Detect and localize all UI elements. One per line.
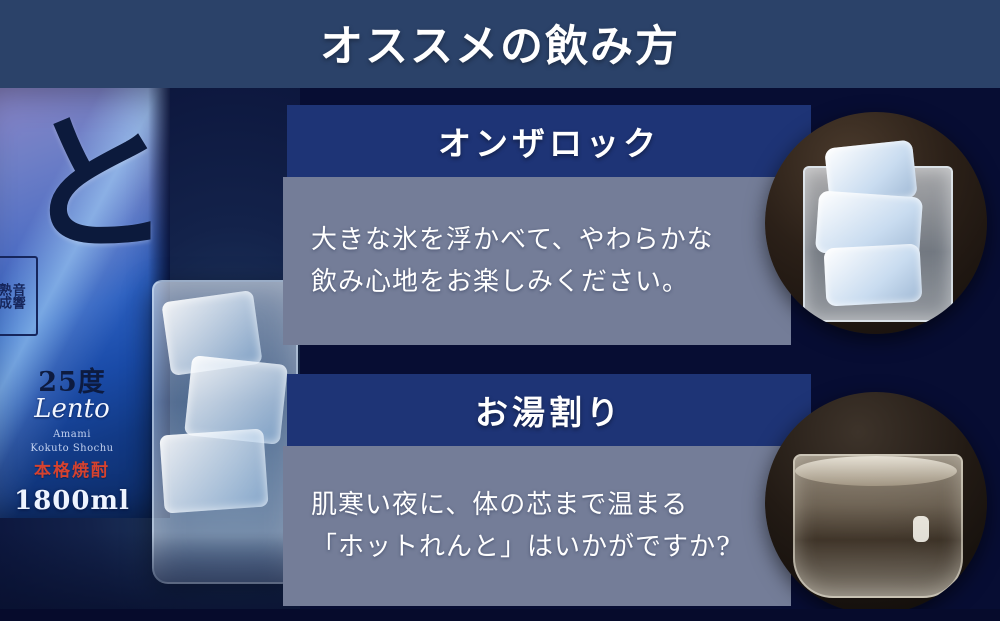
ice-cube bbox=[159, 428, 268, 513]
glass-highlight bbox=[913, 516, 929, 542]
recommendation-card-hot-water: 肌寒い夜に、体の芯まで温まる 「ホットれんと」はいかがですか? お湯割り bbox=[283, 374, 813, 614]
bottom-edge-strip bbox=[0, 609, 1000, 621]
recommendation-card-on-the-rocks: 大きな氷を浮かべて、やわらかな 飲み心地をお楽しみください。 オンザロック bbox=[283, 105, 813, 345]
seal-text-left: 熟成 bbox=[0, 283, 10, 309]
aging-seal: 音響 熟成 bbox=[0, 256, 38, 336]
advertisement-banner: と 音響 熟成 25度 Lento Amami Kokuto Shochu 本格… bbox=[0, 0, 1000, 621]
carton-brand-name: Lento bbox=[0, 394, 170, 424]
carton-kanji-mark: と bbox=[22, 110, 142, 290]
carton-category: 本格焼酎 bbox=[0, 456, 170, 481]
card-heading-band: オンザロック bbox=[287, 105, 811, 177]
seal-text-right: 音響 bbox=[10, 283, 24, 309]
card-body-panel: 肌寒い夜に、体の芯まで温まる 「ホットれんと」はいかがですか? bbox=[283, 446, 791, 606]
carton-english-line2: Kokuto Shochu bbox=[0, 442, 170, 456]
title-bar: オススメの飲み方 bbox=[0, 0, 1000, 88]
card-heading: お湯割り bbox=[475, 386, 623, 434]
hot-water-glass-photo bbox=[765, 392, 987, 614]
table-reflection bbox=[0, 531, 300, 621]
card-heading: オンザロック bbox=[438, 117, 660, 165]
liquid-surface bbox=[795, 456, 957, 486]
carton-volume: 1800ml bbox=[0, 486, 170, 516]
page-title: オススメの飲み方 bbox=[0, 12, 1000, 74]
card-body-panel: 大きな氷を浮かべて、やわらかな 飲み心地をお楽しみください。 bbox=[283, 177, 791, 345]
ice-rocks-glass-photo bbox=[765, 112, 987, 334]
shochu-carton: と 音響 熟成 25度 Lento Amami Kokuto Shochu 本格… bbox=[0, 88, 170, 518]
ice-cube bbox=[824, 244, 923, 307]
carton-english-line1: Amami bbox=[0, 428, 170, 442]
product-photo-background: と 音響 熟成 25度 Lento Amami Kokuto Shochu 本格… bbox=[0, 88, 300, 621]
card-heading-band: お湯割り bbox=[287, 374, 811, 446]
card-description: 大きな氷を浮かべて、やわらかな 飲み心地をお楽しみください。 bbox=[311, 219, 714, 303]
card-description: 肌寒い夜に、体の芯まで温まる 「ホットれんと」はいかがですか? bbox=[311, 484, 731, 568]
